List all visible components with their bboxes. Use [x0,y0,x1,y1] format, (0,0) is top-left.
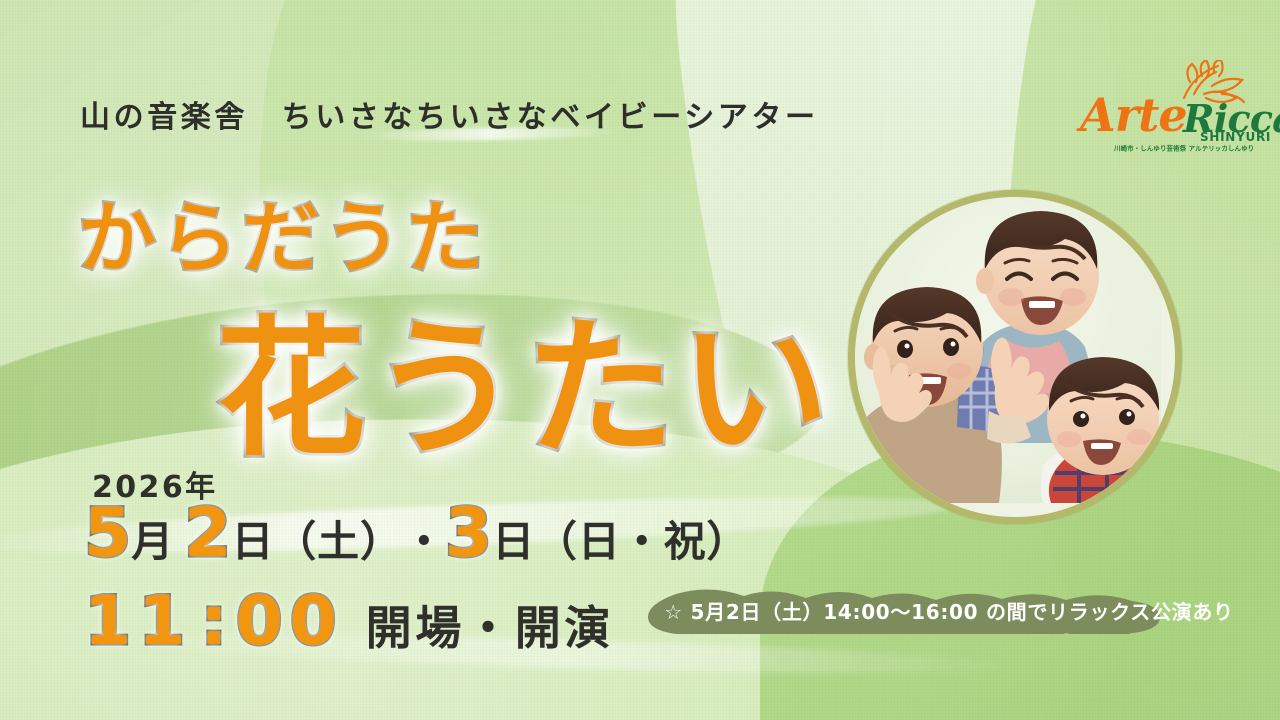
series-subtitle: 山の音楽舎 ちいさなちいさなベイビーシアター [80,92,960,136]
time-colon: : [200,588,227,656]
baby-photo-circle [848,190,1182,524]
time-minute: 00 [235,588,343,656]
date-separator: ・ [403,521,445,563]
date-day1-number: 2 [184,500,231,568]
relax-performance-banner: ☆ 5月2日（土）14:00〜16:00 の間でリラックス公演あり [646,588,1252,634]
date-day2-label: 日（日・祝） [492,521,749,563]
baby-photo-image [855,197,1175,517]
event-date-line: 5 月 2 日（土） ・ 3 日（日・祝） [84,500,749,568]
logo-arte-text: Arte [1080,88,1187,142]
relax-performance-text: ☆ 5月2日（土）14:00〜16:00 の間でリラックス公演あり [646,588,1252,634]
date-month-number: 5 [84,500,131,568]
time-hour: 11 [84,588,192,656]
baby-photo-illustration [855,197,1161,503]
arte-ricca-logo[interactable]: Arte Ricca SHINYURI 川崎市・しんゆり芸術祭 アルテリッカしん… [1078,62,1268,158]
logo-japanese-text: 川崎市・しんゆり芸術祭 アルテリッカしんゆり [1114,144,1254,153]
date-day1-label: 日（土） [232,521,403,563]
date-month-label: 月 [131,521,174,563]
poster-canvas: 山の音楽舎 ちいさなちいさなベイビーシアター からだうた 花うたい 2026年 … [0,0,1280,720]
logo-shinyuri-text: SHINYURI [1200,130,1271,144]
event-time-line: 11 : 00 開場・開演 [84,588,614,656]
time-label: 開場・開演 [366,605,614,651]
baby-bottom-right [1041,357,1161,503]
title-line-main: 花うたい [216,268,834,485]
date-day2-number: 3 [445,500,492,568]
